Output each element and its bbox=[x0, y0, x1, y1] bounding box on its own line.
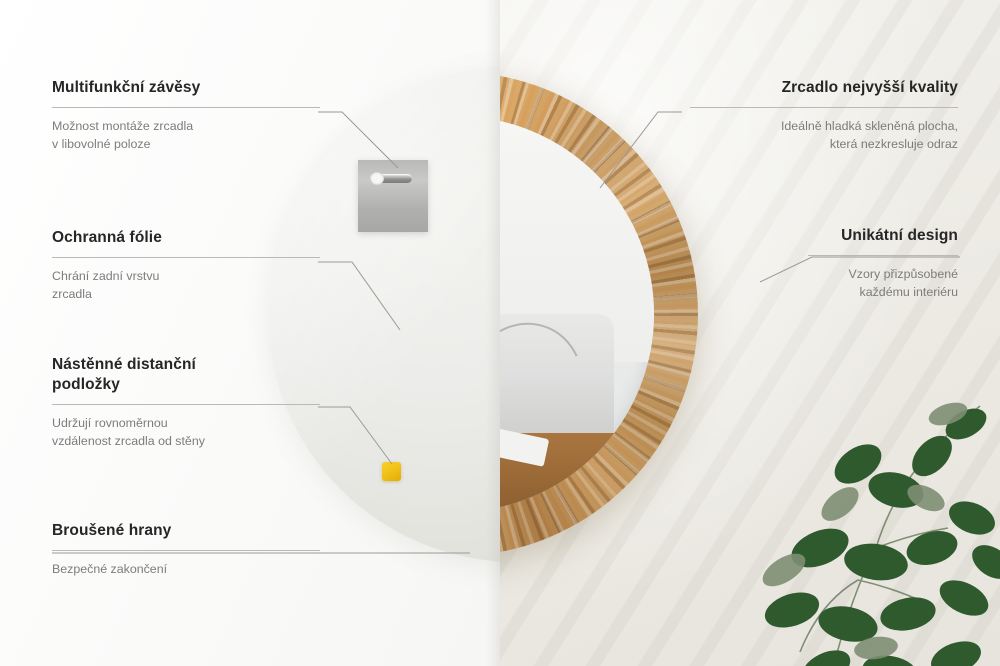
callout-title: Nástěnné distančnípodložky bbox=[52, 355, 320, 395]
callout-rule bbox=[52, 404, 320, 405]
callout-body: Bezpečné zakončení bbox=[52, 561, 320, 579]
callout-title: Multifunkční závěsy bbox=[52, 78, 320, 98]
callout-rule bbox=[690, 107, 958, 108]
callout-rule bbox=[52, 107, 320, 108]
callout-unikatni-design: Unikátní design Vzory přizpůsobenékaždém… bbox=[808, 226, 958, 302]
hanger-plate-marker bbox=[358, 160, 428, 232]
callout-ochranna-folie: Ochranná fólie Chrání zadní vrstvuzrcadl… bbox=[52, 228, 320, 304]
callout-brousene-hrany: Broušené hrany Bezpečné zakončení bbox=[52, 521, 320, 579]
keyhole-slot-icon bbox=[370, 174, 412, 183]
callout-body: Vzory přizpůsobenékaždému interiéru bbox=[808, 266, 958, 302]
callout-rule bbox=[52, 257, 320, 258]
callout-rule bbox=[52, 550, 320, 551]
callout-body: Možnost montáže zrcadlav libovolné poloz… bbox=[52, 118, 320, 154]
callout-title: Unikátní design bbox=[808, 226, 958, 246]
plant-leaves-decoration bbox=[680, 352, 1000, 666]
callout-multifunkcni-zavesy: Multifunkční závěsy Možnost montáže zrca… bbox=[52, 78, 320, 154]
spacer-pad-marker bbox=[382, 462, 401, 481]
callout-title: Broušené hrany bbox=[52, 521, 320, 541]
callout-body: Chrání zadní vrstvuzrcadla bbox=[52, 268, 320, 304]
infographic-canvas: Multifunkční závěsy Možnost montáže zrca… bbox=[0, 0, 1000, 666]
callout-title: Zrcadlo nejvyšší kvality bbox=[690, 78, 958, 98]
callout-title: Ochranná fólie bbox=[52, 228, 320, 248]
callout-rule bbox=[808, 255, 958, 256]
callout-nastenne-distancni-podlozky: Nástěnné distančnípodložky Udržují rovno… bbox=[52, 355, 320, 451]
callout-body: Udržují rovnoměrnouvzdálenost zrcadla od… bbox=[52, 415, 320, 451]
callout-zrcadlo-nejvyssi-kvality: Zrcadlo nejvyšší kvality Ideálně hladká … bbox=[690, 78, 958, 154]
callout-body: Ideálně hladká skleněná plocha,která nez… bbox=[690, 118, 958, 154]
